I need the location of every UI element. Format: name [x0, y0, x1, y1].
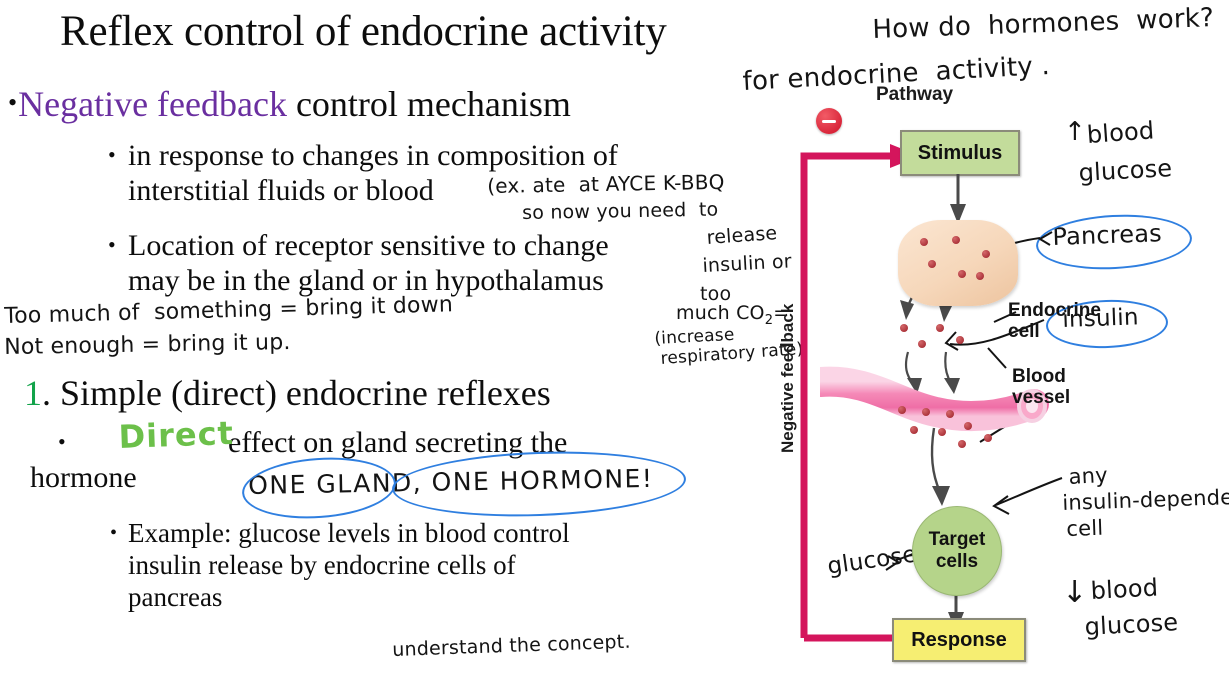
handwriting-too-much-bring-down: Too much of something = bring it down: [4, 293, 453, 329]
hormone-dot: [952, 236, 960, 244]
sub-bullet-line1: in response to changes in composition of: [128, 138, 618, 173]
much-co2-text: much CO: [676, 302, 765, 324]
blood-vessel-label-line2: vessel: [1012, 387, 1070, 408]
slide-canvas: Reflex control of endocrine activity •Ne…: [0, 0, 1229, 680]
handwriting-insulin-or: insulin or: [702, 251, 792, 277]
bullet-glyph: •: [58, 424, 66, 459]
endocrine-pathway-diagram: Pathway Negative feedback Stimulus: [780, 78, 1080, 663]
handwriting-insulin-dependent: insulin-dependent: [1062, 485, 1229, 515]
response-box: Response: [892, 618, 1026, 662]
hormone-dot: [976, 272, 984, 280]
hormone-dot: [958, 440, 966, 448]
handwriting-ayce-line2: so now you need to: [522, 200, 719, 225]
endocrine-cell-label: Endocrine cell: [1008, 300, 1101, 342]
handwriting-understand-the-concept: understand the concept.: [392, 632, 631, 662]
example-line3: pancreas: [128, 581, 570, 613]
negative-feedback-text: Negative feedback: [18, 84, 287, 124]
sub-bullet-line1: Location of receptor sensitive to change: [128, 228, 609, 263]
hormone-dot: [910, 426, 918, 434]
handwriting-blood-down: blood: [1090, 574, 1159, 604]
blood-vessel-label-line1: Blood: [1012, 366, 1070, 387]
endocrine-cell-label-line1: Endocrine: [1008, 300, 1101, 321]
handwriting-glucose-up: glucose: [1078, 155, 1173, 187]
handwriting-blood-up: blood: [1086, 117, 1155, 149]
sub-bullet-receptor-location: • Location of receptor sensitive to chan…: [128, 228, 609, 298]
bullet-glyph: •: [8, 82, 17, 124]
hormone-dot: [938, 428, 946, 436]
endocrine-cell-label-line2: cell: [1008, 321, 1101, 342]
bullet-glyph: •: [108, 227, 116, 262]
example-line2: insulin release by endocrine cells of: [128, 549, 570, 581]
list-number: 1: [24, 373, 42, 413]
hormone-dot: [922, 408, 930, 416]
bullet-glyph: •: [110, 517, 117, 549]
control-mechanism-text: control mechanism: [287, 84, 571, 124]
target-cells-circle: Target cells: [912, 506, 1002, 596]
handwriting-glucose-down: glucose: [1084, 609, 1179, 641]
handwriting-how-do-hormones-work: How do hormones work?: [872, 4, 1214, 45]
endocrine-cell-shape: [898, 220, 1018, 306]
target-cells-line2: cells: [929, 551, 986, 573]
example-line1: Example: glucose levels in blood control: [128, 517, 570, 549]
handwriting-release: release: [706, 223, 778, 249]
handwriting-one-gland-one-hormone: ONE GLAND, ONE HORMONE!: [248, 465, 654, 500]
page-title: Reflex control of endocrine activity: [60, 6, 890, 58]
hormone-dot: [928, 260, 936, 268]
bullet-glyph: •: [108, 137, 116, 172]
hormone-dot: [956, 336, 964, 344]
sub-bullet-line2: may be in the gland or in hypothalamus: [128, 263, 609, 298]
bullet-negative-feedback: •Negative feedback control mechanism: [8, 82, 571, 125]
hormone-dot: [946, 410, 954, 418]
blood-vessel-label: Blood vessel: [1012, 366, 1070, 408]
handwriting-direct: Direct: [118, 416, 234, 456]
hormone-dot: [958, 270, 966, 278]
target-cells-line1: Target: [929, 529, 986, 551]
hormone-dot: [936, 324, 944, 332]
co2-subscript: 2: [765, 313, 773, 328]
handwriting-not-enough-bring-up: Not enough = bring it up.: [4, 331, 291, 361]
hormone-dot: [964, 422, 972, 430]
hormone-dot: [984, 434, 992, 442]
hormone-dot: [918, 340, 926, 348]
hormone-dot: [982, 250, 990, 258]
hormone-dot: [898, 406, 906, 414]
hormone-dot: [900, 324, 908, 332]
hormone-dot: [920, 238, 928, 246]
sub-bullet-example-glucose: • Example: glucose levels in blood contr…: [128, 517, 570, 613]
numbered-item-simple-reflexes: 1. Simple (direct) endocrine reflexes: [24, 372, 551, 414]
handwriting-ayce-line1: (ex. ate at AYCE K-BBQ: [487, 171, 725, 198]
list-number-text: . Simple (direct) endocrine reflexes: [42, 373, 551, 413]
